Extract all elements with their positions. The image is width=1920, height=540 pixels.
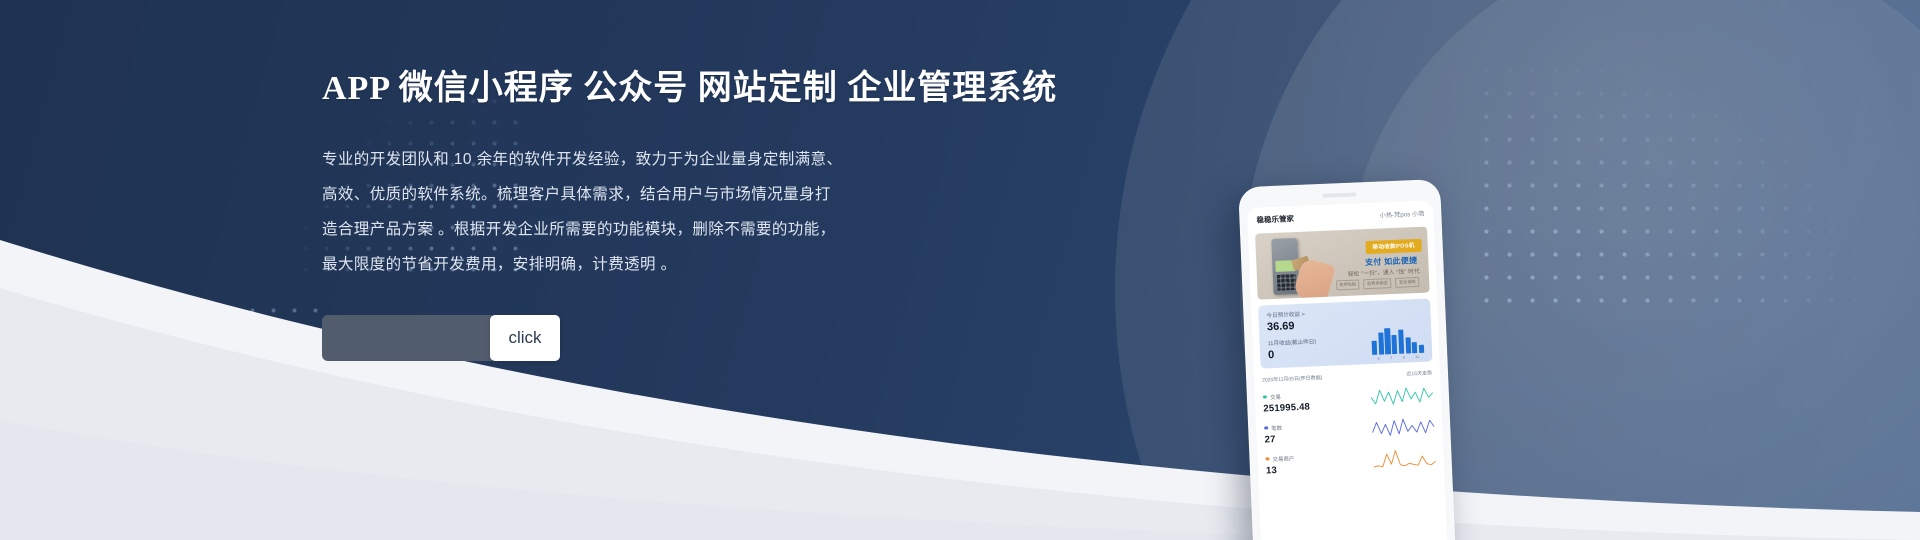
stat-left: 交易商户13 — [1265, 454, 1295, 476]
stats-date-label: 2020年11月05日(昨日数据) — [1262, 374, 1322, 384]
stats-trend-label: 近15天走势 — [1406, 369, 1432, 377]
phone-mockup: 稳稳乐管家 小热-梵pos 小简 移动收款POS机 支付 如此便捷 轻松 "一扫… — [1238, 179, 1456, 540]
promo-pill: 免押免租 — [1336, 279, 1360, 290]
stat-value: 251995.48 — [1263, 401, 1310, 414]
promo-headline: 支付 如此便捷 — [1365, 255, 1418, 268]
stat-label: 交易商户 — [1272, 454, 1294, 463]
promo-pill-list: 免押免租 低费率稳定 安全保障 — [1336, 277, 1420, 290]
promo-pill: 安全保障 — [1395, 277, 1419, 288]
sparkline-chart — [1373, 447, 1436, 472]
hero-copy: APP 微信小程序 公众号 网站定制 企业管理系统 专业的开发团队和 10 余年… — [322, 60, 1082, 282]
app-account-label: 小热-梵pos 小简 — [1379, 208, 1424, 219]
earnings-bar-chart — [1371, 327, 1424, 355]
stat-label: 交易 — [1270, 392, 1281, 400]
status-dot-icon — [1263, 395, 1267, 399]
earnings-bar-axis: 57911 — [1372, 354, 1424, 360]
stat-name: 笔数 — [1264, 423, 1282, 432]
stat-name: 交易 — [1263, 391, 1310, 401]
promo-subline: 轻松 "一扫"，通入 "钱" 时代 — [1348, 267, 1420, 278]
description-line-3: 造合理产品方案 。根据开发企业所需要的功能模块，删除不需要的功能， — [322, 212, 1082, 247]
bar — [1385, 328, 1391, 354]
description-line-4: 最大限度的节省开发费用，安排明确，计费透明 。 — [322, 247, 1082, 282]
sparkline-chart — [1371, 385, 1434, 410]
hero-banner: APP 微信小程序 公众号 网站定制 企业管理系统 专业的开发团队和 10 余年… — [0, 0, 1920, 540]
bar — [1405, 337, 1411, 353]
hero-description: 专业的开发团队和 10 余年的软件开发经验，致力于为企业量身定制满意、 高效、优… — [322, 142, 1082, 282]
stats-list: 交易251995.48笔数27交易商户13 — [1255, 380, 1445, 481]
bar — [1398, 330, 1404, 354]
sparkline-chart — [1372, 416, 1435, 441]
bar — [1378, 332, 1384, 354]
cta-group[interactable]: click — [322, 315, 560, 361]
stat-left: 交易251995.48 — [1263, 391, 1311, 414]
stat-left: 笔数27 — [1264, 423, 1283, 445]
stat-value: 27 — [1264, 433, 1282, 445]
stat-row[interactable]: 交易商户13 — [1265, 442, 1436, 480]
page-title: APP 微信小程序 公众号 网站定制 企业管理系统 — [322, 60, 1082, 109]
bar — [1412, 342, 1418, 353]
pos-keypad-icon — [1276, 274, 1296, 291]
phone-speaker-icon — [1322, 192, 1356, 197]
description-line-1: 专业的开发团队和 10 余年的软件开发经验，致力于为企业量身定制满意、 — [322, 142, 1082, 177]
bar — [1419, 345, 1424, 353]
promo-pill: 低费率稳定 — [1363, 278, 1391, 289]
earnings-summary-card[interactable]: 今日预计收益 > 36.69 11月收益(截止昨日) 0 57911 — [1258, 298, 1432, 368]
stat-label: 笔数 — [1271, 423, 1282, 431]
phone-screen: 稳稳乐管家 小热-梵pos 小简 移动收款POS机 支付 如此便捷 轻松 "一扫… — [1247, 200, 1448, 540]
stat-name: 交易商户 — [1265, 454, 1294, 463]
status-dot-icon — [1265, 457, 1269, 461]
description-line-2: 高效、优质的软件系统。梳理客户具体需求，结合用户与市场情况量身打 — [322, 177, 1082, 212]
bar-axis-tick: 5 — [1378, 356, 1380, 360]
bar-axis-tick: 11 — [1415, 354, 1419, 358]
bar — [1372, 341, 1378, 355]
bar-axis-tick: 7 — [1390, 356, 1392, 360]
promo-tag: 移动收款POS机 — [1365, 239, 1422, 254]
app-brand-label: 稳稳乐管家 — [1256, 213, 1294, 226]
stat-value: 13 — [1266, 464, 1295, 476]
bar — [1392, 335, 1398, 354]
cta-bar — [322, 315, 492, 361]
bar-axis-tick: 9 — [1403, 355, 1405, 359]
click-button[interactable]: click — [490, 315, 560, 361]
status-dot-icon — [1264, 426, 1268, 430]
app-promo-banner[interactable]: 移动收款POS机 支付 如此便捷 轻松 "一扫"，通入 "钱" 时代 免押免租 … — [1255, 227, 1430, 300]
